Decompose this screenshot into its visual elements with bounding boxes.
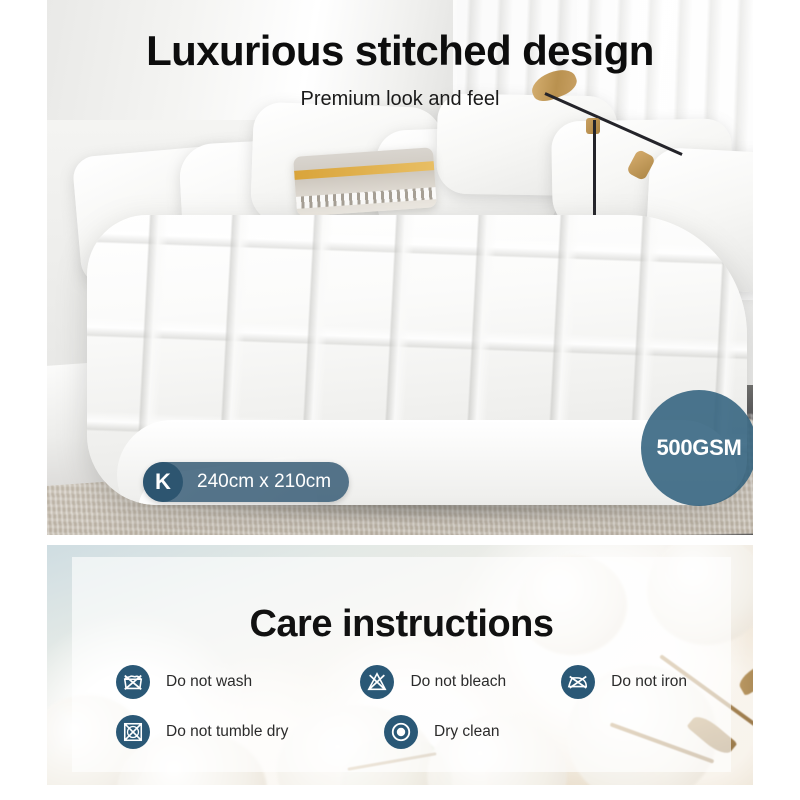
care-label: Do not wash (166, 673, 252, 691)
hero-bedroom-photo: Luxurious stitched design Premium look a… (47, 0, 753, 535)
size-badge: K 240cm x 210cm (143, 462, 349, 502)
care-row-1: Do not wash Do not bleach (116, 657, 687, 707)
care-item-dry-clean: Dry clean (384, 715, 604, 749)
care-instructions-panel: Care instructions Do not wash (47, 545, 753, 785)
product-feature-page: Luxurious stitched design Premium look a… (0, 0, 800, 800)
care-label: Do not iron (611, 673, 687, 691)
care-item-do-not-iron: Do not iron (561, 665, 687, 699)
care-icon-grid: Do not wash Do not bleach (72, 657, 731, 757)
page-subtitle: Premium look and feel (47, 88, 753, 111)
do-not-wash-icon (116, 665, 150, 699)
cushion-fringe (296, 187, 436, 209)
care-item-do-not-wash: Do not wash (116, 665, 360, 699)
size-letter-badge: K (143, 462, 183, 502)
care-overlay-card: Care instructions Do not wash (72, 557, 731, 772)
cushion-stripe (294, 161, 434, 180)
do-not-bleach-icon (360, 665, 394, 699)
decorative-cushion (293, 147, 437, 217)
care-label: Do not bleach (410, 673, 506, 691)
care-label: Dry clean (434, 723, 499, 741)
care-row-2: Do not tumble dry Dry clean (116, 707, 687, 757)
gsm-badge: 500GSM (641, 390, 753, 506)
do-not-iron-icon (561, 665, 595, 699)
care-label: Do not tumble dry (166, 723, 288, 741)
care-title: Care instructions (72, 603, 731, 646)
care-item-do-not-bleach: Do not bleach (360, 665, 561, 699)
page-title: Luxurious stitched design (47, 30, 753, 72)
size-dimensions-label: 240cm x 210cm (197, 471, 331, 493)
care-item-do-not-tumble-dry: Do not tumble dry (116, 715, 384, 749)
do-not-tumble-dry-icon (116, 715, 150, 749)
dry-clean-icon (384, 715, 418, 749)
